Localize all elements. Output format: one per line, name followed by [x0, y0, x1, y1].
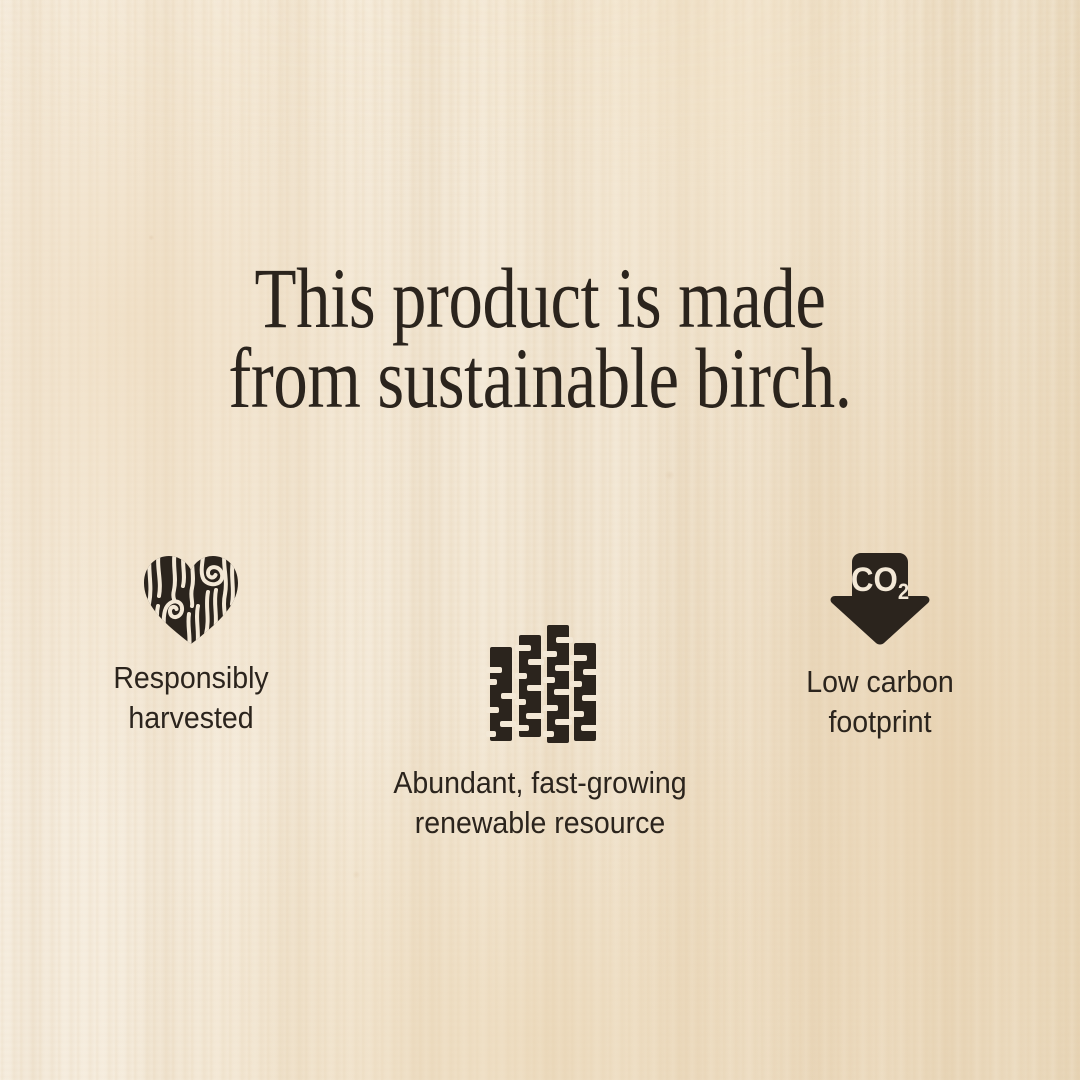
feature-caption: Low carbon footprint [735, 662, 1026, 742]
caption-line-2: renewable resource [367, 803, 713, 843]
feature-low-carbon-footprint: CO2 Low carbon footprint [722, 546, 1038, 742]
feature-caption: Abundant, fast-growing renewable resourc… [367, 763, 713, 843]
birch-sustainability-card: This product is made from sustainable bi… [0, 0, 1080, 1080]
feature-responsibly-harvested: Responsibly harvested [38, 548, 344, 738]
caption-line-2: harvested [50, 698, 332, 738]
caption-line-1: Responsibly [50, 658, 332, 698]
feature-caption: Responsibly harvested [50, 658, 332, 738]
icon-container: CO2 [722, 546, 1038, 648]
feature-renewable-resource: Abundant, fast-growing renewable resourc… [352, 620, 728, 843]
birch-trunks-icon [484, 623, 596, 745]
caption-line-1: Low carbon [735, 662, 1026, 702]
caption-line-2: footprint [735, 702, 1026, 742]
page-title: This product is made from sustainable bi… [108, 258, 972, 418]
caption-line-1: Abundant, fast-growing [367, 763, 713, 803]
co2-down-arrow-icon: CO2 [827, 548, 933, 648]
headline-line-2: from sustainable birch. [108, 338, 972, 418]
icon-container [38, 548, 344, 646]
icon-container [352, 620, 728, 745]
headline-line-1: This product is made [108, 258, 972, 338]
wood-grain-heart-icon [142, 554, 240, 646]
